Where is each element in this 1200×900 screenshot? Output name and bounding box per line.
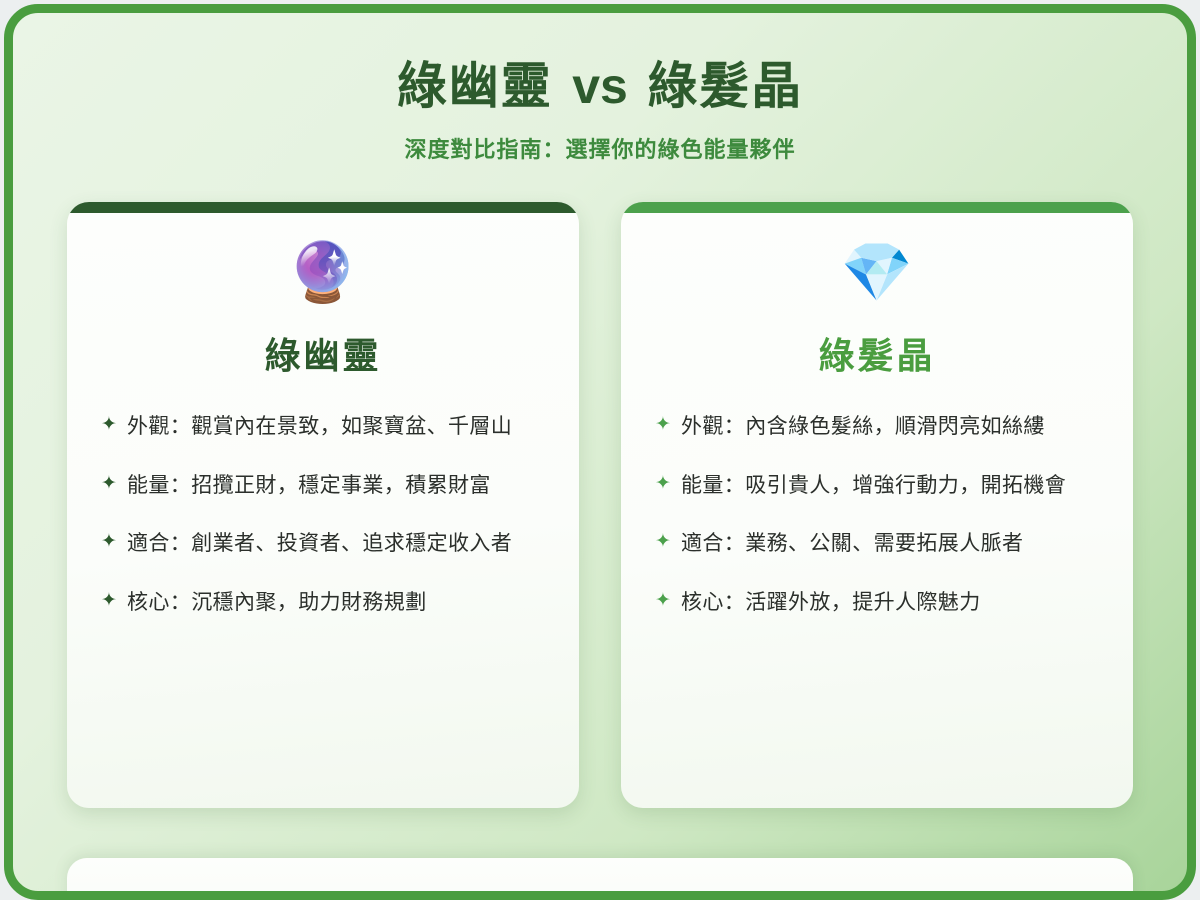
list-item: ✦ 能量：吸引貴人，增強行動力，開拓機會 xyxy=(655,468,1099,503)
page-content: 綠幽靈 vs 綠髮晶 深度對比指南：選擇你的綠色能量夥伴 🔮 綠幽靈 ✦ 外觀：… xyxy=(13,13,1187,891)
list-item: ✦ 外觀：內含綠色髮絲，順滑閃亮如絲縷 xyxy=(655,409,1099,444)
star-bullet-icon: ✦ xyxy=(655,526,681,557)
star-bullet-icon: ✦ xyxy=(655,468,681,499)
card-body: 💎 綠髮晶 ✦ 外觀：內含綠色髮絲，順滑閃亮如絲縷 ✦ 能量：吸引貴人，增強行動… xyxy=(621,213,1133,808)
card-title: 綠幽靈 xyxy=(101,327,545,379)
comparison-cards: 🔮 綠幽靈 ✦ 外觀：觀賞內在景致，如聚寶盆、千層山 ✦ 能量：招攬正財，穩定事… xyxy=(13,202,1187,808)
page-title-right-term: 綠髮晶 xyxy=(647,57,803,115)
star-bullet-icon: ✦ xyxy=(101,585,127,616)
feature-text: 核心：沉穩內聚，助力財務規劃 xyxy=(127,585,545,620)
list-item: ✦ 核心：沉穩內聚，助力財務規劃 xyxy=(101,585,545,620)
star-bullet-icon: ✦ xyxy=(101,468,127,499)
feature-text: 適合：業務、公關、需要拓展人脈者 xyxy=(681,526,1099,561)
feature-text: 能量：吸引貴人，增強行動力，開拓機會 xyxy=(681,468,1099,503)
list-item: ✦ 外觀：觀賞內在景致，如聚寶盆、千層山 xyxy=(101,409,545,444)
card-body: 🔮 綠幽靈 ✦ 外觀：觀賞內在景致，如聚寶盆、千層山 ✦ 能量：招攬正財，穩定事… xyxy=(67,213,579,808)
page-title-left-term: 綠幽靈 xyxy=(397,57,553,115)
page-frame: 綠幽靈 vs 綠髮晶 深度對比指南：選擇你的綠色能量夥伴 🔮 綠幽靈 ✦ 外觀：… xyxy=(4,4,1196,900)
page-header: 綠幽靈 vs 綠髮晶 深度對比指南：選擇你的綠色能量夥伴 xyxy=(13,13,1187,164)
list-item: ✦ 適合：創業者、投資者、追求穩定收入者 xyxy=(101,526,545,561)
feature-text: 能量：招攬正財，穩定事業，積累財富 xyxy=(127,468,545,503)
list-item: ✦ 核心：活躍外放，提升人際魅力 xyxy=(655,585,1099,620)
feature-list: ✦ 外觀：觀賞內在景致，如聚寶盆、千層山 ✦ 能量：招攬正財，穩定事業，積累財富… xyxy=(101,409,545,644)
star-bullet-icon: ✦ xyxy=(101,409,127,440)
list-item: ✦ 適合：業務、公關、需要拓展人脈者 xyxy=(655,526,1099,561)
star-bullet-icon: ✦ xyxy=(655,409,681,440)
summary-banner: 選擇關鍵：依需求而定，綠幽靈聚財守成，綠髮晶開運拓新，精挑品相，佐助天成 xyxy=(67,858,1133,900)
star-bullet-icon: ✦ xyxy=(101,526,127,557)
comparison-card-green-phantom[interactable]: 🔮 綠幽靈 ✦ 外觀：觀賞內在景致，如聚寶盆、千層山 ✦ 能量：招攬正財，穩定事… xyxy=(67,202,579,808)
feature-list: ✦ 外觀：內含綠色髮絲，順滑閃亮如絲縷 ✦ 能量：吸引貴人，增強行動力，開拓機會… xyxy=(655,409,1099,644)
comparison-card-green-rutilated[interactable]: 💎 綠髮晶 ✦ 外觀：內含綠色髮絲，順滑閃亮如絲縷 ✦ 能量：吸引貴人，增強行動… xyxy=(621,202,1133,808)
page-subtitle: 深度對比指南：選擇你的綠色能量夥伴 xyxy=(13,132,1187,164)
card-accent-bar xyxy=(67,202,579,213)
feature-text: 外觀：觀賞內在景致，如聚寶盆、千層山 xyxy=(127,409,545,444)
card-accent-bar xyxy=(621,202,1133,213)
crystal-ball-icon: 🔮 xyxy=(101,243,545,309)
star-bullet-icon: ✦ xyxy=(655,585,681,616)
card-title: 綠髮晶 xyxy=(655,327,1099,379)
feature-text: 核心：活躍外放，提升人際魅力 xyxy=(681,585,1099,620)
feature-text: 適合：創業者、投資者、追求穩定收入者 xyxy=(127,526,545,561)
page-title-vs: vs xyxy=(572,58,628,114)
page-title: 綠幽靈 vs 綠髮晶 xyxy=(13,59,1187,114)
gem-icon: 💎 xyxy=(655,243,1099,309)
list-item: ✦ 能量：招攬正財，穩定事業，積累財富 xyxy=(101,468,545,503)
feature-text: 外觀：內含綠色髮絲，順滑閃亮如絲縷 xyxy=(681,409,1099,444)
